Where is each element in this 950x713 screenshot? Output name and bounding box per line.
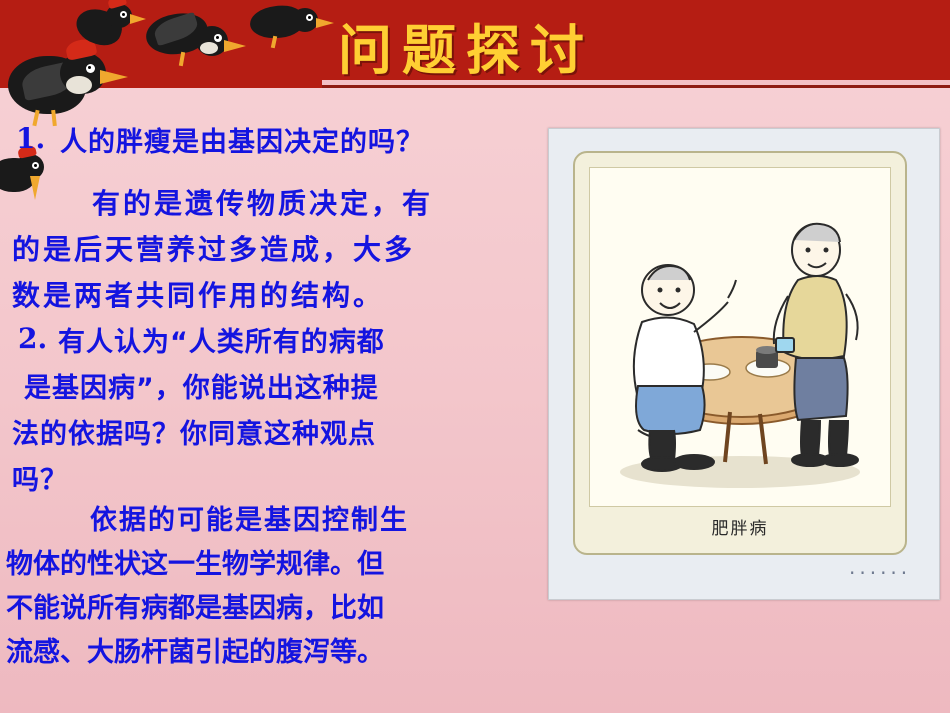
illustration-frame: 肥胖病 [573,151,907,555]
question-1-answer-line-2: 的是后天营养过多造成，大多 [12,228,415,268]
question-1-prompt: 人的胖瘦是由基因决定的吗？ [60,120,424,159]
page-title: 问题探讨 [338,6,594,85]
question-1-number: 1. [16,122,45,155]
cartoon-illustration [590,168,890,506]
bird-icon-2 [72,0,142,60]
illustration-dots: ······ [849,561,911,585]
header-underline-dark [322,85,950,88]
question-text-column: 1. 人的胖瘦是由基因决定的吗？ 有的是遗传物质决定，有 的是后天营养过多造成，… [0,110,548,710]
illustration-caption: 肥胖病 [575,514,905,539]
question-2-prompt-line-3: 法的依据吗？你同意这种观点 [12,412,376,451]
illustration-canvas [589,167,891,507]
question-2-answer-line-3: 不能说所有病都是基因病，比如 [6,586,384,625]
question-2-answer-line-1: 依据的可能是基因控制生 [90,498,409,537]
bird-icon-4 [248,0,338,56]
question-1-answer-line-3: 数是两者共同作用的结构。 [12,274,384,314]
question-2-prompt-line-1: 有人认为“人类所有的病都 [58,320,385,359]
slide-root: 问题探讨 [0,0,950,713]
question-2-prompt-line-2: 是基因病”，你能说出这种提 [24,366,379,405]
illustration-card: 肥胖病 ······ [548,128,940,600]
question-2-answer-line-4: 流感、大肠杆菌引起的腹泻等。 [6,630,384,669]
question-1-answer-line-1: 有的是遗传物质决定，有 [92,182,433,222]
bird-icon-3 [140,8,250,78]
question-2-number: 2. [18,322,47,355]
question-2-prompt-line-4: 吗？ [12,458,68,497]
question-2-answer-line-2: 物体的性状这一生物学规律。但 [6,542,384,581]
